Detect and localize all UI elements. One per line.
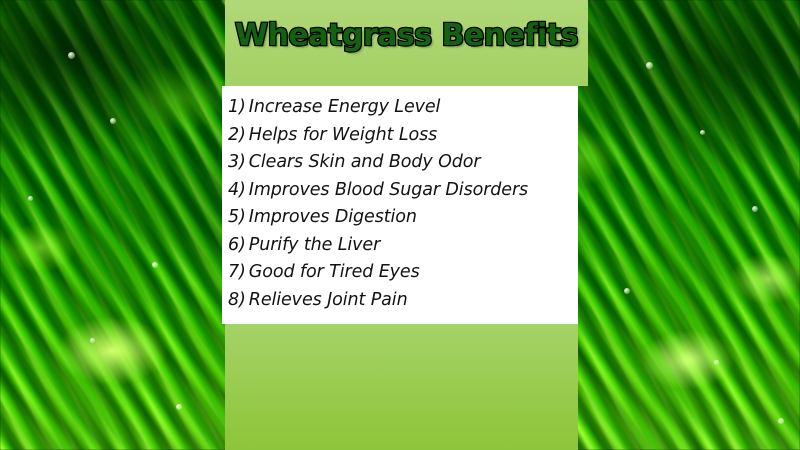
list-item-label: Improves Blood Sugar Disorders (249, 180, 528, 200)
card-header-band: Wheatgrass Benefits (225, 0, 588, 86)
list-item-number: 4) (228, 180, 246, 200)
list-item: 3)Clears Skin and Body Odor (228, 149, 528, 177)
list-item: 4)Improves Blood Sugar Disorders (228, 177, 528, 205)
list-item-number: 1) (228, 97, 246, 117)
list-item-label: Increase Energy Level (249, 97, 441, 117)
list-item: 6)Purify the Liver (228, 232, 528, 260)
benefits-card: Wheatgrass Benefits 1)Increase Energy Le… (225, 0, 578, 450)
benefits-list: 1)Increase Energy Level 2)Helps for Weig… (228, 94, 528, 314)
list-item: 1)Increase Energy Level (228, 94, 528, 122)
slide-canvas: Wheatgrass Benefits 1)Increase Energy Le… (0, 0, 800, 450)
list-item-label: Purify the Liver (249, 235, 380, 255)
list-item-label: Improves Digestion (249, 207, 417, 227)
card-footer-band (225, 324, 578, 450)
list-item-number: 3) (228, 152, 246, 172)
list-item-number: 6) (228, 235, 246, 255)
list-item-label: Good for Tired Eyes (249, 262, 420, 282)
list-item: 5)Improves Digestion (228, 204, 528, 232)
list-item-label: Relieves Joint Pain (249, 290, 408, 310)
card-body-panel: 1)Increase Energy Level 2)Helps for Weig… (222, 86, 578, 324)
list-item-number: 8) (228, 290, 246, 310)
list-item: 2)Helps for Weight Loss (228, 122, 528, 150)
list-item: 7)Good for Tired Eyes (228, 259, 528, 287)
list-item-number: 7) (228, 262, 246, 282)
list-item: 8)Relieves Joint Pain (228, 287, 528, 315)
list-item-label: Helps for Weight Loss (249, 125, 437, 145)
list-item-number: 5) (228, 207, 246, 227)
list-item-number: 2) (228, 125, 246, 145)
page-title: Wheatgrass Benefits (225, 18, 588, 53)
list-item-label: Clears Skin and Body Odor (249, 152, 481, 172)
